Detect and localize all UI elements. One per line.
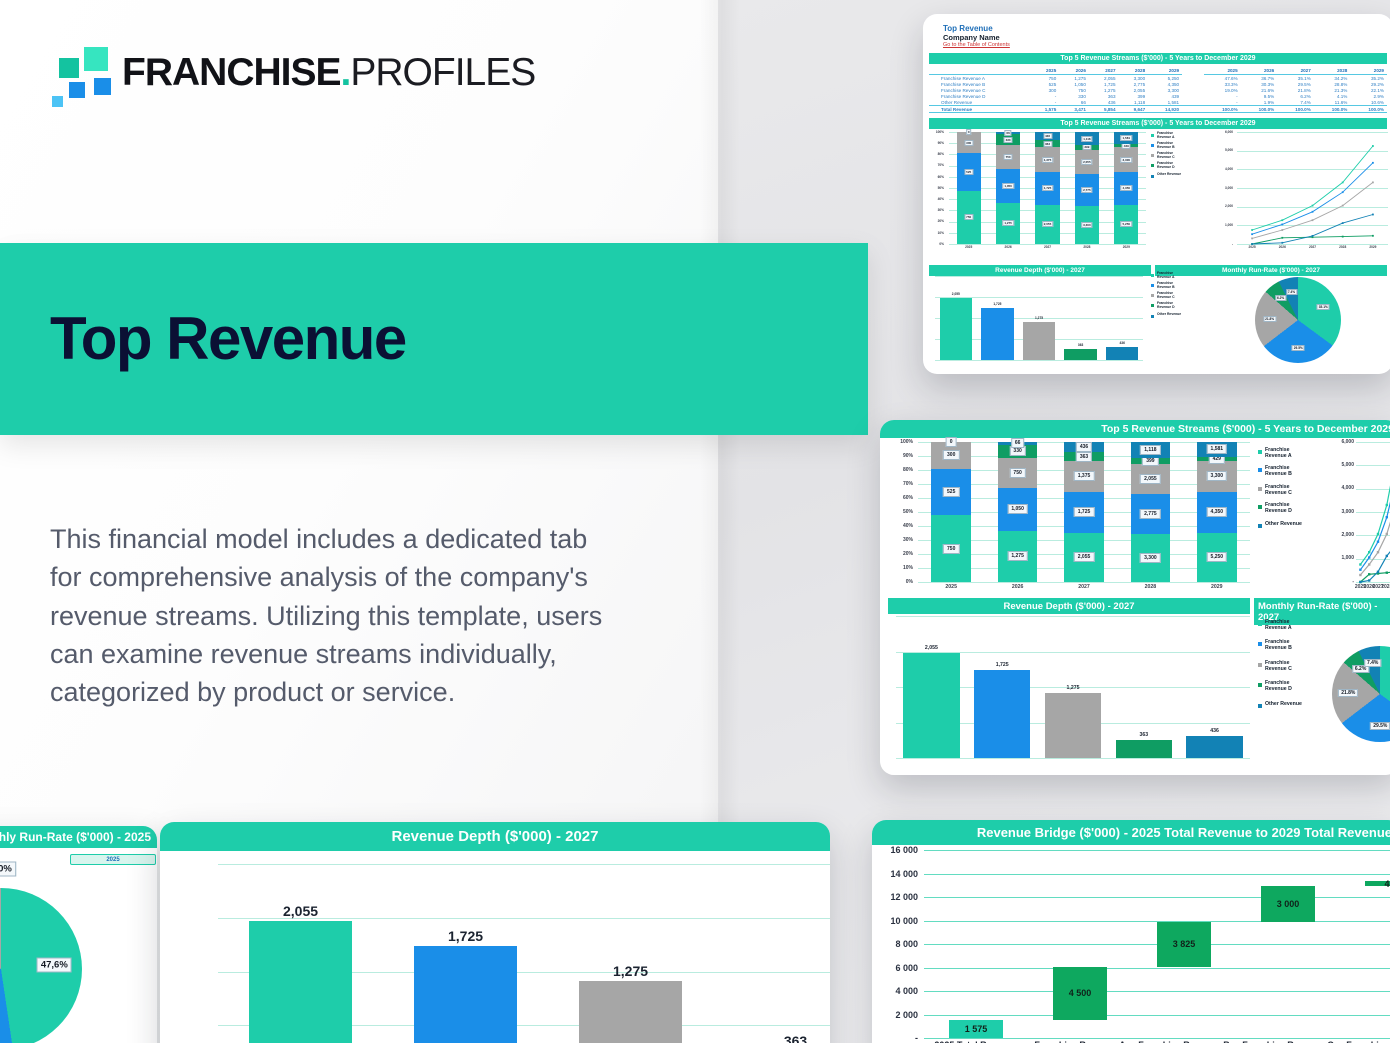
bar-value-label: 330 (1004, 137, 1013, 143)
y-tick-label: 90% (938, 141, 944, 145)
legend-label-line2: Revenue B (1157, 146, 1175, 150)
bar-value-label: 66 (1011, 438, 1025, 448)
bar-value-label: 363 (1043, 141, 1052, 147)
legend-label-line2: Revenue B (1265, 646, 1292, 652)
bar-value-label: 363 (1139, 732, 1148, 738)
logo-square-blue-right (94, 78, 111, 95)
bar-value-label: 436 (1043, 133, 1052, 139)
pie-slice-label: 6.2% (1275, 295, 1286, 301)
bar-value-label: 436 (1210, 728, 1219, 734)
description-paragraph: This financial model includes a dedicate… (50, 520, 620, 712)
legend-label: FranchiseRevenue C (1157, 292, 1175, 299)
y-tick-label: 100% (900, 439, 913, 445)
y-tick-label: 70% (938, 163, 944, 167)
logo-square-teal-light (84, 47, 108, 71)
bar-value-label: 1,275 (613, 963, 648, 979)
legend-label: FranchiseRevenue D (1265, 681, 1292, 692)
mini-depth-legend: FranchiseRevenue AFranchiseRevenue BFran… (1151, 272, 1209, 368)
legend-label-line2: Revenue D (1265, 509, 1292, 515)
gridline (924, 850, 1390, 851)
cell-pct: 100.0% (1350, 106, 1387, 113)
bar-value-label: 3,300 (1207, 471, 1228, 481)
y-tick-label: - (1232, 242, 1233, 246)
pie-slice-label: 47,6% (37, 958, 72, 973)
legend-label-line2: Revenue C (1157, 296, 1175, 300)
bar (974, 670, 1031, 758)
y-tick-label: 4 000 (895, 986, 918, 996)
legend-row: FranchiseRevenue D (1151, 162, 1209, 169)
brand-wordmark: FRANCHISE.PROFILES (122, 53, 535, 92)
bridge-yaxis: 16 00014 00012 00010 0008 0006 0004 0002… (878, 850, 922, 1038)
y-tick-label: 60% (938, 175, 944, 179)
c4-banner-depth: Revenue Depth ($'000) - 2027 (160, 822, 830, 851)
legend-swatch (1258, 487, 1262, 491)
bar-value-label: 5,250 (1207, 552, 1228, 562)
bar-value-label: 750 (1009, 468, 1025, 478)
mini-stacked-legend: FranchiseRevenue AFranchiseRevenue BFran… (1151, 132, 1209, 257)
gridline (918, 582, 1250, 583)
bar-value-label: 1,275 (1002, 220, 1014, 226)
legend-swatch (1151, 294, 1154, 297)
waterfall-value-label: 439 (1384, 879, 1390, 889)
brand-name-light: PROFILES (350, 51, 535, 94)
bar (1186, 736, 1243, 758)
brand-name-dot: . (341, 51, 351, 94)
gridline (935, 276, 1143, 277)
mini-line-xaxis: 20252026202720282029 (1237, 245, 1388, 255)
waterfall-value-label: 3 000 (1277, 899, 1300, 909)
bar-value-label: 66 (1004, 130, 1011, 136)
bar-value-label: 525 (943, 487, 959, 497)
legend-label-line2: Revenue A (1265, 626, 1292, 632)
gridline (896, 758, 1250, 759)
bar (1106, 347, 1138, 360)
legend-label: FranchiseRevenue A (1265, 448, 1292, 459)
line-plot (1356, 442, 1390, 582)
th-p-2026: 2026 (1241, 67, 1278, 75)
depth-large-plot: 2,0551,7251,275363 (218, 864, 830, 1043)
x-tick-label: 2028 (1083, 245, 1090, 249)
x-tick-label: 2026 (1005, 245, 1012, 249)
y-tick-label: 50% (938, 186, 944, 190)
gridline (924, 991, 1390, 992)
bar-value-label: 2,775 (1140, 509, 1161, 519)
bar-value-label: 750 (964, 214, 973, 220)
legend-label: FranchiseRevenue A (1157, 272, 1174, 279)
legend-swatch (1258, 642, 1262, 646)
bar (1045, 693, 1102, 758)
stacked-legend: FranchiseRevenue AFranchiseRevenue BFran… (1258, 448, 1326, 598)
bar-value-label: 2,055 (1140, 474, 1161, 484)
th-v-2028: 2028 (1119, 67, 1149, 75)
y-tick-label: 100% (936, 130, 944, 134)
sheet-title: Top Revenue (943, 24, 1387, 33)
y-tick-label: 90% (903, 453, 913, 459)
legend-row: Other Revenue (1151, 313, 1209, 318)
legend-label: FranchiseRevenue C (1265, 661, 1292, 672)
dashboard-card-revenue-depth[interactable]: Revenue Depth ($'000) - 2027 2,0551,7251… (160, 822, 830, 1043)
bar-value-label: 1,375 (1074, 471, 1095, 481)
bar-value-label: 750 (1004, 154, 1013, 160)
c3-banner-runrate-2025: Monthly Run-Rate ($'000) - 2025 (0, 826, 157, 848)
logo-square-blue-small (52, 96, 63, 107)
bar-value-label: 4,350 (1207, 507, 1228, 517)
x-tick-label: 2029 (1211, 584, 1223, 590)
legend-row: FranchiseRevenue D (1258, 681, 1326, 692)
y-tick-label: 6 000 (895, 963, 918, 973)
revenue-table: 2025 2026 2027 2028 2029 2025 2026 2027 … (929, 67, 1387, 113)
logo-squares-icon (46, 44, 108, 100)
legend-row: FranchiseRevenue B (1258, 466, 1326, 477)
bar (579, 981, 681, 1043)
cell: 1,575 (1030, 106, 1060, 113)
legend-label-line2: Revenue D (1265, 687, 1292, 693)
bridge-plot: 1 5754 5003 8253 000439 (924, 850, 1390, 1038)
legend-swatch (1258, 622, 1262, 626)
legend-swatch (1151, 284, 1154, 287)
legend-row: FranchiseRevenue A (1151, 132, 1209, 139)
legend-row: Other Revenue (1151, 173, 1209, 178)
bar (981, 308, 1013, 360)
y-tick-label: 16 000 (890, 845, 918, 855)
legend-swatch (1151, 315, 1154, 318)
legend-row: Other Revenue (1258, 702, 1326, 708)
bar-value-label: 2,055 (283, 903, 318, 919)
logo-square-teal-dark (59, 58, 79, 78)
cell-pct: 100.0% (1314, 106, 1351, 113)
bar-value-label: 2,055 (952, 292, 960, 296)
mini-line-yaxis: 6,0005,0004,0003,0002,0001,000- (1213, 132, 1235, 244)
table-header-row: 2025 2026 2027 2028 2029 2025 2026 2027 … (929, 67, 1387, 75)
pie-slice-label: 21.8% (1338, 689, 1358, 697)
y-tick-label: 50% (903, 509, 913, 515)
sheet-banner-streams: Top 5 Revenue Streams ($'000) - 5 Years … (929, 53, 1387, 64)
gridline (896, 652, 1250, 653)
stacked-revenue-chart: 100%90%80%70%60%50%40%30%20%10%0% 750525… (890, 442, 1250, 594)
waterfall-value-label: 4 500 (1069, 988, 1092, 998)
legend-label-line2: Revenue A (1265, 454, 1292, 460)
y-tick-label: 80% (938, 152, 944, 156)
legend-label: FranchiseRevenue B (1157, 282, 1175, 289)
x-tick-label: 2025 (965, 245, 972, 249)
gridline (218, 864, 830, 865)
bar-value-label: 2,055 (925, 645, 938, 651)
x-tick-label: 2025 (945, 584, 957, 590)
legend-label-line2: Revenue D (1157, 166, 1175, 170)
pie-slice-label: 7.4% (1364, 659, 1381, 667)
table-of-contents-link[interactable]: Go to the Table of Contents (943, 42, 1387, 48)
y-tick-label: 14 000 (890, 869, 918, 879)
bar-value-label: 1,581 (1121, 135, 1133, 141)
bar-value-label: 1,725 (448, 928, 483, 944)
stacked-yaxis: 100%90%80%70%60%50%40%30%20%10%0% (890, 442, 916, 582)
pie-slice-label: 21.8% (1263, 316, 1276, 322)
brand-name-bold: FRANCHISE (122, 51, 341, 94)
x-tick-label: 2029 (1123, 245, 1130, 249)
gridline (924, 1015, 1390, 1016)
gridline (896, 616, 1250, 617)
legend-row: FranchiseRevenue C (1151, 152, 1209, 159)
gridline (924, 1038, 1390, 1039)
legend-label-line2: Revenue C (1157, 156, 1175, 160)
cell-pct: 100.0% (1241, 106, 1278, 113)
dashboard-card-charts[interactable]: Top 5 Revenue Streams ($'000) - 5 Years … (880, 420, 1390, 775)
stacked-xaxis: 20252026202720282029 (918, 584, 1250, 596)
dashboard-card-runrate-pie[interactable]: Monthly Run-Rate ($'000) - 2025 2025 47,… (0, 826, 157, 1043)
bar-value-label: 1,050 (1002, 183, 1014, 189)
bar-value-label: 0 (966, 129, 972, 135)
x-tick-label: 2026 (1279, 245, 1286, 249)
legend-label-line2: Revenue B (1157, 286, 1175, 290)
y-tick-label: 5,000 (1341, 462, 1354, 468)
legend-label-line2: Revenue A (1157, 136, 1174, 140)
y-tick-label: 6,000 (1341, 439, 1354, 445)
th-p-2029: 2029 (1350, 67, 1387, 75)
x-tick-label: 2026 (1012, 584, 1024, 590)
y-tick-label: 8 000 (895, 939, 918, 949)
bar-value-label: 399 (1082, 144, 1091, 150)
th-p-2027: 2027 (1277, 67, 1314, 75)
legend-row: FranchiseRevenue C (1258, 485, 1326, 496)
x-tick-label: 2028 (1145, 584, 1157, 590)
bar-value-label: 0 (946, 437, 957, 447)
page-title: Top Revenue (50, 309, 406, 369)
y-tick-label: - (1352, 579, 1354, 585)
bar-value-label: 2,055 (1081, 159, 1093, 165)
legend-row: FranchiseRevenue B (1151, 142, 1209, 149)
cell: 9,647 (1119, 106, 1149, 113)
y-tick-label: 3,000 (1341, 509, 1354, 515)
bar-value-label: 1,275 (1007, 551, 1028, 561)
y-tick-label: 40% (938, 197, 944, 201)
gridline (924, 897, 1390, 898)
bar-value-label: 2,775 (1081, 187, 1093, 193)
line-yaxis: 6,0005,0004,0003,0002,0001,000- (1330, 442, 1356, 582)
th-v-2029: 2029 (1148, 67, 1182, 75)
bar-value-label: 750 (943, 544, 959, 554)
cell-pct: 100.0% (1204, 106, 1241, 113)
x-tick-label: 2028 (1339, 245, 1346, 249)
pie-year-tab[interactable]: 2025 (70, 854, 156, 865)
legend-label: FranchiseRevenue A (1265, 620, 1292, 631)
mini-line-plot (1237, 132, 1388, 244)
y-tick-label: 40% (903, 523, 913, 529)
legend-swatch (1258, 704, 1262, 708)
table-total-row: Total Revenue 1,575 3,471 5,854 9,647 14… (929, 106, 1387, 113)
runrate-pie-2025: 47,6%33,3%19,0%0,0%0,0% (0, 874, 102, 1043)
y-tick-label: 10% (938, 231, 944, 235)
y-tick-label: 2,000 (1341, 532, 1354, 538)
line-xaxis: 20252026202720282029 (1356, 584, 1390, 596)
legend-swatch (1151, 274, 1154, 277)
y-tick-label: 30% (938, 208, 944, 212)
y-tick-label: 10 000 (890, 916, 918, 926)
bar-value-label: 300 (964, 140, 973, 146)
y-tick-label: 0% (906, 579, 913, 585)
logo-square-blue-mid (69, 82, 85, 98)
mini-depth-plot: 2,0551,7251,275363436 (935, 276, 1143, 360)
bar-value-label: 436 (1076, 442, 1092, 452)
runrate-line-chart: 6,0005,0004,0003,0002,0001,000- 20252026… (1330, 442, 1390, 594)
bar-value-label: 363 (1078, 343, 1083, 347)
bar (414, 946, 516, 1043)
th-p-2028: 2028 (1314, 67, 1351, 75)
mini-pie-chart: 35.1%29.5%21.8%6.2%7.4% (1211, 269, 1386, 374)
bar-value-label: 1,725 (993, 302, 1001, 306)
sheet-company: Company Name (943, 33, 1387, 42)
y-tick-label: 30% (903, 537, 913, 543)
bar-value-label: 2,055 (1042, 221, 1054, 227)
y-tick-label: 80% (903, 467, 913, 473)
legend-swatch (1151, 144, 1154, 147)
bar-value-label: 3,300 (1081, 222, 1093, 228)
legend-row: FranchiseRevenue B (1258, 640, 1326, 651)
legend-swatch (1151, 134, 1154, 137)
legend-swatch (1258, 663, 1262, 667)
sheet-header: Top Revenue Company Name Go to the Table… (929, 22, 1387, 48)
depth-plot: 2,0551,7251,275363436 (896, 616, 1250, 758)
legend-label: FranchiseRevenue D (1157, 302, 1175, 309)
legend-label: FranchiseRevenue C (1265, 485, 1292, 496)
bar-value-label: 363 (1076, 452, 1092, 462)
depth-legend: FranchiseRevenue AFranchiseRevenue BFran… (1258, 620, 1326, 768)
bar (903, 653, 960, 758)
legend-label-line2: Revenue B (1265, 472, 1292, 478)
legend-label-line2: Revenue D (1157, 306, 1175, 310)
y-tick-label: 20% (903, 551, 913, 557)
mini-line-chart: 6,0005,0004,0003,0002,0001,000- 20252026… (1213, 132, 1388, 257)
pie-slice-label: 29.5% (1292, 345, 1305, 351)
y-tick-label: - (915, 1033, 918, 1043)
legend-swatch (1151, 175, 1154, 178)
bar-value-label: 1,050 (1007, 504, 1028, 514)
legend-row: Other Revenue (1258, 522, 1326, 528)
y-tick-label: 60% (903, 495, 913, 501)
gridline (924, 874, 1390, 875)
legend-label: FranchiseRevenue A (1157, 132, 1174, 139)
y-tick-label: 10% (903, 565, 913, 571)
y-tick-label: 2 000 (895, 1010, 918, 1020)
y-tick-label: 20% (938, 219, 944, 223)
th-v-2025: 2025 (1030, 67, 1060, 75)
legend-swatch (1151, 304, 1154, 307)
gridline (935, 360, 1143, 361)
pie-slice-label: 35.1% (1317, 304, 1330, 310)
legend-swatch (1151, 154, 1154, 157)
line-series-svg (1237, 132, 1388, 244)
y-tick-label: 12 000 (890, 892, 918, 902)
bar (1023, 322, 1055, 360)
line-series-svg (1356, 442, 1390, 582)
th-v-2027: 2027 (1089, 67, 1119, 75)
hero-banner: Top Revenue (0, 243, 868, 435)
x-tick-label: 2025 (1249, 245, 1256, 249)
bar (249, 921, 351, 1043)
mini-depth-chart: 2,0551,7251,275363436 (931, 272, 1146, 368)
legend-label-line2: Revenue C (1265, 491, 1292, 497)
mini-stacked-xaxis: 20252026202720282029 (949, 245, 1146, 255)
c5-banner-bridge: Revenue Bridge ($'000) - 2025 Total Reve… (872, 820, 1390, 845)
th-p-2025: 2025 (1204, 67, 1241, 75)
legend-swatch (1258, 505, 1262, 509)
cell-pct: 100.0% (1277, 106, 1314, 113)
legend-label: FranchiseRevenue D (1157, 162, 1175, 169)
cell: 5,854 (1089, 106, 1119, 113)
legend-label: Other Revenue (1265, 702, 1302, 708)
legend-row: FranchiseRevenue D (1151, 302, 1209, 309)
cell: 3,471 (1059, 106, 1089, 113)
bar-value-label: 2,055 (1074, 552, 1095, 562)
pie-slice-label: 29.5% (1370, 722, 1390, 730)
bar-value-label: 5,250 (1121, 221, 1133, 227)
bar-value-label: 1,118 (1081, 136, 1092, 142)
bar-value-label: 1,375 (1042, 157, 1054, 163)
x-tick-label: 2027 (1044, 245, 1051, 249)
x-tick-label: 2028 (1381, 584, 1390, 590)
bar-value-label: 3,300 (1140, 553, 1161, 563)
legend-label: FranchiseRevenue D (1265, 503, 1292, 514)
y-tick-label: 70% (903, 481, 913, 487)
y-tick-label: 2,000 (1225, 204, 1233, 208)
y-tick-label: 1,000 (1225, 223, 1233, 227)
revenue-mix-pie: 35.1%29.5%21.8%6.2%7.4% (1326, 612, 1390, 768)
legend-row: FranchiseRevenue A (1151, 272, 1209, 279)
bar-value-label: 1,581 (1207, 444, 1228, 454)
bar (1116, 740, 1173, 759)
y-tick-label: 0% (939, 242, 944, 246)
legend-swatch (1258, 450, 1262, 454)
legend-label: FranchiseRevenue B (1157, 142, 1175, 149)
bar-value-label: 363 (784, 1033, 807, 1043)
legend-label-line2: Revenue A (1157, 276, 1174, 280)
legend-swatch (1258, 468, 1262, 472)
waterfall-value-label: 1 575 (965, 1024, 988, 1034)
c2-banner-depth: Revenue Depth ($'000) - 2027 (888, 598, 1250, 614)
pie-slice-label: 0,0% (0, 861, 16, 876)
bar-value-label: 1,275 (1035, 316, 1043, 320)
y-tick-label: 1,000 (1341, 555, 1354, 561)
legend-row: FranchiseRevenue D (1258, 503, 1326, 514)
bar-value-label: 1,118 (1140, 445, 1160, 455)
cell: 14,920 (1148, 106, 1182, 113)
bar-value-label: 1,275 (1067, 685, 1080, 691)
depth-bar-chart: 2,0551,7251,275363436 (890, 616, 1250, 766)
pie-slice-label: 7.4% (1286, 289, 1297, 295)
legend-label: Other Revenue (1157, 313, 1181, 317)
dashboard-card-revenue-bridge[interactable]: Revenue Bridge ($'000) - 2025 Total Reve… (872, 820, 1390, 1043)
legend-swatch (1258, 683, 1262, 687)
row-label: Total Revenue (929, 106, 1030, 113)
legend-row: FranchiseRevenue A (1258, 620, 1326, 631)
mini-stacked-plot: 75052530001,2751,050750330662,0551,7251,… (949, 132, 1146, 244)
bar (1064, 349, 1096, 360)
y-tick-label: 4,000 (1341, 485, 1354, 491)
legend-swatch (1258, 524, 1262, 528)
c2-banner-streams: Top 5 Revenue Streams ($'000) - 5 Years … (880, 420, 1390, 438)
legend-label: FranchiseRevenue B (1265, 466, 1292, 477)
gridline (924, 968, 1390, 969)
legend-label-line2: Revenue C (1265, 667, 1292, 673)
legend-label: Other Revenue (1157, 173, 1181, 177)
legend-label: FranchiseRevenue C (1157, 152, 1175, 159)
legend-label: FranchiseRevenue B (1265, 640, 1292, 651)
x-tick-label: 2029 (1369, 245, 1376, 249)
mini-stacked-yaxis: 100%90%80%70%60%50%40%30%20%10%0% (931, 132, 947, 244)
th-v-2026: 2026 (1059, 67, 1089, 75)
dashboard-card-spreadsheet[interactable]: Top Revenue Company Name Go to the Table… (923, 14, 1390, 374)
legend-row: FranchiseRevenue A (1258, 448, 1326, 459)
y-tick-label: 5,000 (1225, 148, 1233, 152)
